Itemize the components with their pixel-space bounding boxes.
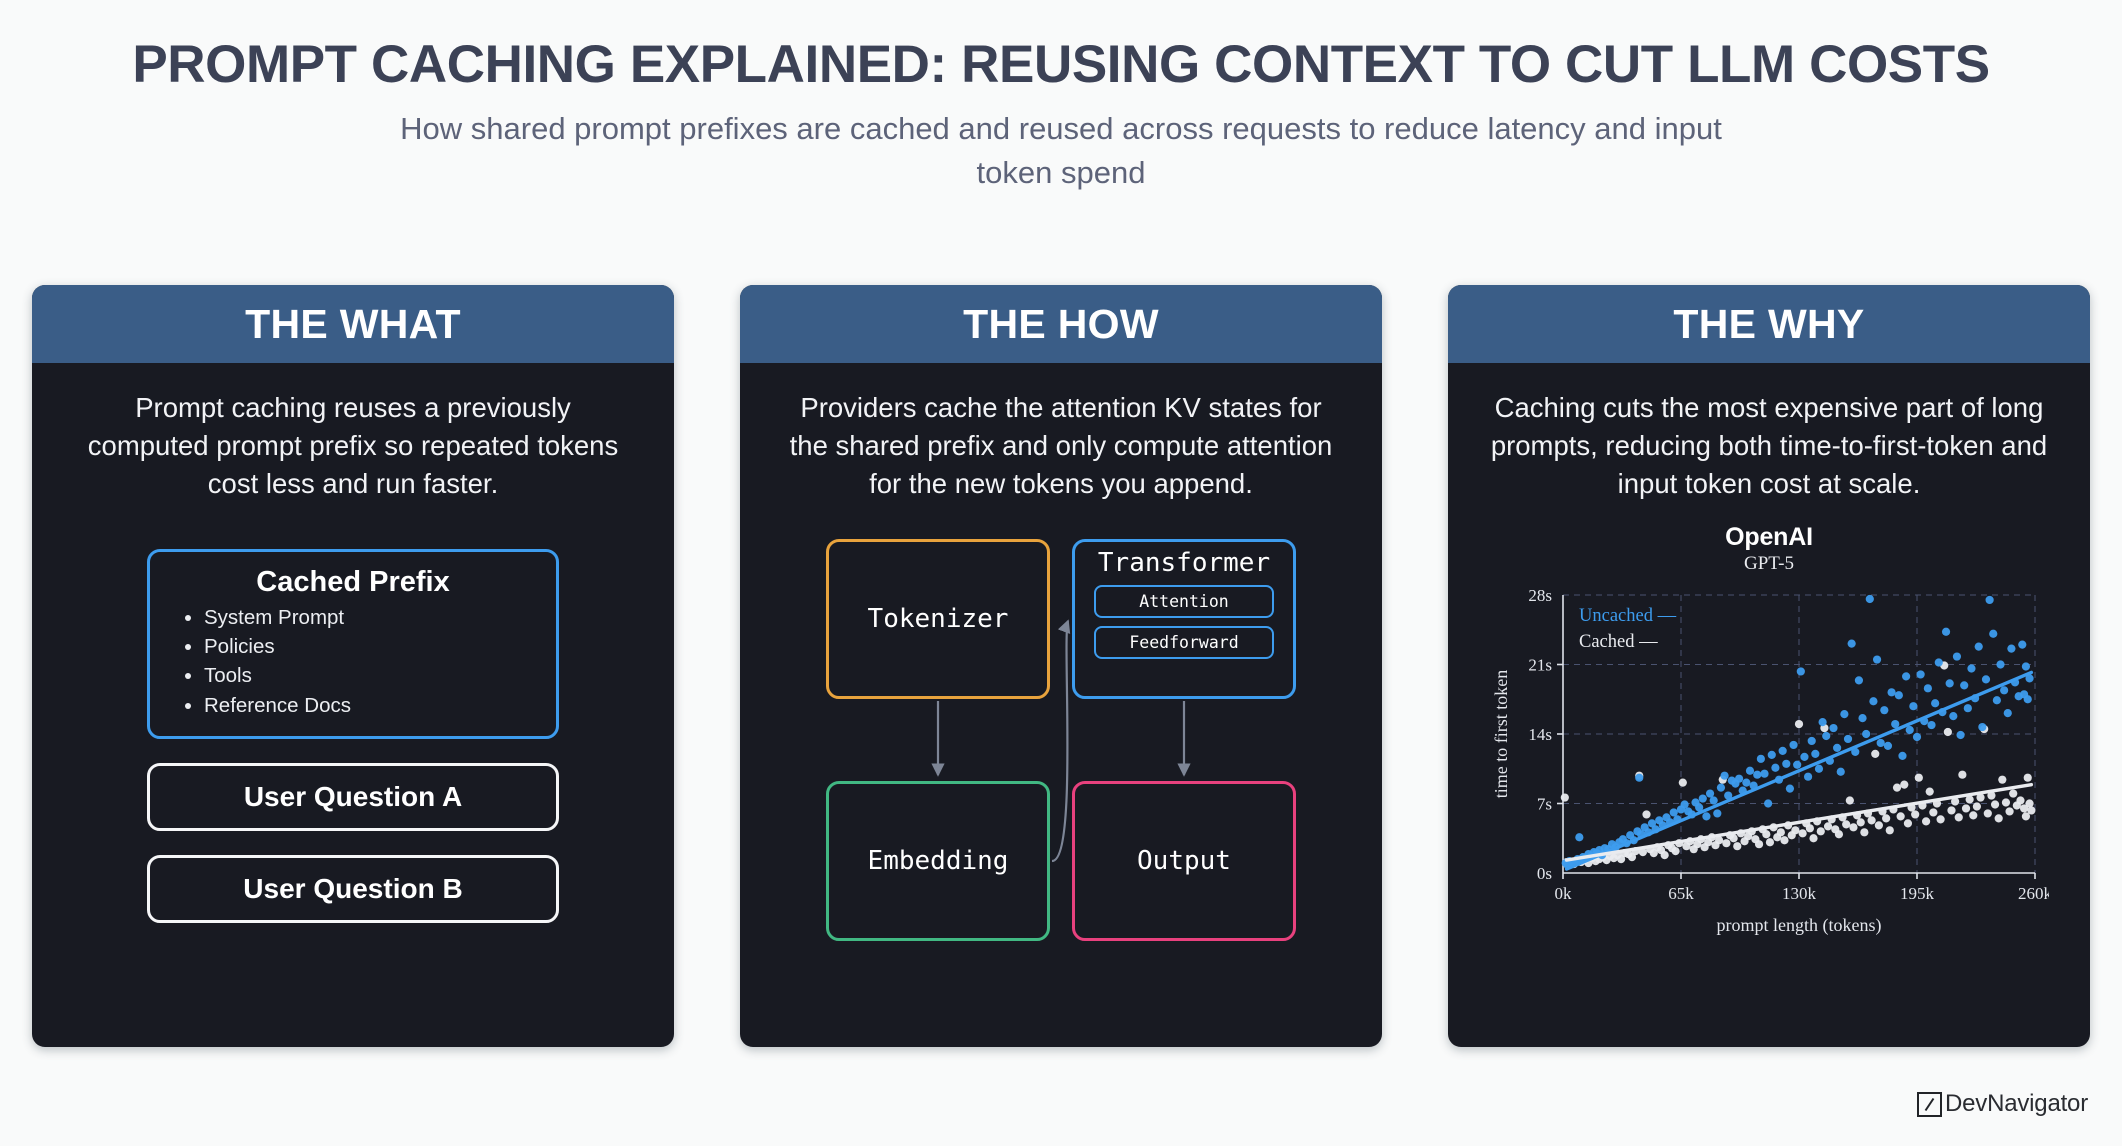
y-tick-label: 0s [1537, 864, 1552, 883]
data-point-cached [1671, 847, 1679, 855]
data-point-uncached [1873, 655, 1881, 663]
panel-the-why-body: Caching cuts the most expensive part of … [1448, 363, 2090, 1047]
chart-brand-label: OpenAI [1725, 523, 1813, 552]
data-point-uncached [1913, 733, 1921, 741]
data-point-cached [1998, 775, 2006, 783]
list-item: Policies [204, 632, 538, 661]
data-point-uncached [1887, 688, 1895, 696]
data-point-uncached [1789, 741, 1797, 749]
cached-prefix-title: Cached Prefix [168, 566, 538, 599]
list-item: Tools [204, 661, 538, 690]
data-point-cached [1875, 821, 1883, 829]
data-point-uncached [1917, 670, 1925, 678]
data-point-uncached [1713, 809, 1721, 817]
data-point-uncached [1986, 596, 1994, 604]
data-point-cached [1860, 828, 1868, 836]
data-point-uncached [1779, 747, 1787, 755]
data-point-cached [1955, 813, 1963, 821]
data-point-uncached [1949, 712, 1957, 720]
data-point-uncached [1978, 723, 1986, 731]
data-point-cached [2002, 798, 2010, 806]
data-point-uncached [1815, 764, 1823, 772]
page-subtitle: How shared prompt prefixes are cached an… [381, 107, 1741, 195]
y-tick-label: 21s [1528, 655, 1552, 674]
x-axis-label: prompt length (tokens) [1717, 915, 1882, 936]
cache-structure-diagram: Cached Prefix System Prompt Policies Too… [62, 549, 644, 923]
data-point-cached [1561, 793, 1569, 801]
data-point-uncached [1880, 706, 1888, 714]
data-point-cached [1766, 838, 1774, 846]
data-point-uncached [1800, 753, 1808, 761]
data-point-cached [1817, 827, 1825, 835]
data-point-uncached [1877, 739, 1885, 747]
legend-item-uncached: Uncached — [1579, 606, 1677, 626]
data-point-uncached [1906, 726, 1914, 734]
data-point-uncached [2020, 690, 2028, 698]
node-embedding-label: Embedding [868, 846, 1009, 876]
data-point-uncached [1706, 789, 1714, 797]
node-attention: Attention [1094, 585, 1274, 618]
data-point-uncached [1858, 714, 1866, 722]
data-point-cached [2016, 796, 2024, 804]
data-point-cached [1868, 816, 1876, 824]
data-point-uncached [1793, 760, 1801, 768]
data-point-uncached [1702, 812, 1710, 820]
footer-logo: DevNavigator [1917, 1090, 2088, 1118]
data-point-uncached [1771, 763, 1779, 771]
data-point-cached [1897, 812, 1905, 820]
data-point-cached [1911, 810, 1919, 818]
logo-text: DevNavigator [1945, 1090, 2088, 1118]
latency-chart-block: OpenAI GPT-5 0s7s14s21s28s0k65k130k195k2… [1478, 523, 2060, 939]
y-tick-label: 7s [1537, 794, 1552, 813]
panel-the-why-title: THE WHY [1673, 301, 1864, 348]
data-point-uncached [1808, 737, 1816, 745]
data-point-uncached [1804, 772, 1812, 780]
data-point-uncached [1942, 627, 1950, 635]
panel-the-what-title: THE WHAT [245, 301, 461, 348]
data-point-cached [1882, 814, 1890, 822]
data-point-uncached [1757, 755, 1765, 763]
data-point-uncached [1909, 702, 1917, 710]
data-point-uncached [1855, 676, 1863, 684]
panel-the-how-header: THE HOW [740, 285, 1382, 363]
panel-the-what: THE WHAT Prompt caching reuses a previou… [32, 285, 674, 1047]
data-point-uncached [1735, 774, 1743, 782]
data-point-uncached [1797, 667, 1805, 675]
pipeline-diagram: Tokenizer Embedding Transformer Attentio… [826, 539, 1296, 919]
data-point-cached [1799, 829, 1807, 837]
data-point-cached [1929, 808, 1937, 816]
data-point-uncached [1681, 800, 1689, 808]
data-point-uncached [1819, 718, 1827, 726]
data-point-cached [1809, 834, 1817, 842]
x-tick-label: 260k [2018, 884, 2049, 903]
data-point-uncached [1822, 732, 1830, 740]
data-point-cached [1922, 817, 1930, 825]
data-point-cached [1958, 770, 1966, 778]
data-point-uncached [1982, 675, 1990, 683]
data-point-cached [1642, 810, 1650, 818]
y-tick-label: 14s [1528, 725, 1552, 744]
data-point-uncached [1848, 639, 1856, 647]
data-point-uncached [1946, 679, 1954, 687]
legend-item-cached: Cached — [1579, 632, 1658, 652]
data-point-cached [1915, 773, 1923, 781]
slash-square-icon [1917, 1092, 1942, 1117]
data-point-uncached [1935, 658, 1943, 666]
data-point-uncached [1837, 767, 1845, 775]
panel-the-why: THE WHY Caching cuts the most expensive … [1448, 285, 2090, 1047]
data-point-uncached [1866, 595, 1874, 603]
data-point-cached [1806, 824, 1814, 832]
header: PROMPT CACHING EXPLAINED: REUSING CONTEX… [0, 0, 2122, 195]
data-point-uncached [1768, 751, 1776, 759]
x-tick-label: 65k [1668, 884, 1694, 903]
data-point-cached [1795, 720, 1803, 728]
data-point-cached [1991, 800, 1999, 808]
data-point-uncached [1833, 744, 1841, 752]
data-point-uncached [1895, 691, 1903, 699]
panels-row: THE WHAT Prompt caching reuses a previou… [32, 285, 2090, 1047]
data-point-uncached [1753, 770, 1761, 778]
data-point-cached [1733, 842, 1741, 850]
chart-model-label: GPT-5 [1744, 553, 1794, 575]
data-point-uncached [1844, 735, 1852, 743]
data-point-uncached [1829, 724, 1837, 732]
panel-the-what-header: THE WHAT [32, 285, 674, 363]
data-point-cached [1824, 822, 1832, 830]
data-point-uncached [1670, 808, 1678, 816]
page-title: PROMPT CACHING EXPLAINED: REUSING CONTEX… [0, 36, 2122, 93]
data-point-cached [1871, 750, 1879, 758]
list-item: Reference Docs [204, 691, 538, 720]
data-point-uncached [2004, 709, 2012, 717]
data-point-uncached [2000, 686, 2008, 694]
node-transformer: Transformer Attention Feedforward [1072, 539, 1296, 699]
data-point-uncached [1924, 684, 1932, 692]
data-point-cached [2009, 789, 2017, 797]
data-point-cached [1661, 851, 1669, 859]
data-point-cached [1947, 806, 1955, 814]
data-point-cached [2025, 799, 2033, 807]
data-point-cached [1780, 836, 1788, 844]
panel-the-why-description: Caching cuts the most expensive part of … [1489, 389, 2049, 503]
data-point-cached [2005, 807, 2013, 815]
data-point-uncached [1760, 769, 1768, 777]
data-point-cached [1886, 826, 1894, 834]
data-point-uncached [1927, 721, 1935, 729]
node-output: Output [1072, 781, 1296, 941]
node-output-label: Output [1137, 846, 1231, 876]
data-point-uncached [1782, 760, 1790, 768]
data-point-uncached [1964, 704, 1972, 712]
x-tick-label: 130k [1782, 884, 1817, 903]
data-point-uncached [1869, 697, 1877, 705]
data-point-uncached [1742, 778, 1750, 786]
data-point-uncached [1764, 799, 1772, 807]
data-point-uncached [1635, 773, 1643, 781]
panel-the-how-description: Providers cache the attention KV states … [781, 389, 1341, 503]
data-point-cached [1730, 834, 1738, 842]
data-point-cached [1722, 839, 1730, 847]
data-point-cached [1904, 819, 1912, 827]
data-point-uncached [1710, 796, 1718, 804]
x-tick-label: 195k [1900, 884, 1935, 903]
x-tick-label: 0k [1555, 884, 1573, 903]
data-point-cached [1857, 818, 1865, 826]
data-point-cached [1984, 809, 1992, 817]
node-embedding: Embedding [826, 781, 1050, 941]
panel-the-what-body: Prompt caching reuses a previously compu… [32, 363, 674, 1047]
data-point-cached [1679, 778, 1687, 786]
node-transformer-label: Transformer [1098, 548, 1270, 578]
data-point-uncached [1717, 783, 1725, 791]
data-point-uncached [2022, 662, 2030, 670]
data-point-uncached [1967, 664, 1975, 672]
panel-the-why-header: THE WHY [1448, 285, 2090, 363]
y-tick-label: 28s [1528, 586, 1552, 605]
data-point-uncached [1746, 766, 1754, 774]
data-point-cached [1846, 796, 1854, 804]
data-point-cached [1849, 823, 1857, 831]
cached-prefix-box: Cached Prefix System Prompt Policies Too… [147, 549, 559, 739]
list-item: System Prompt [204, 603, 538, 632]
data-point-cached [1835, 830, 1843, 838]
data-point-uncached [1720, 771, 1728, 779]
cached-prefix-list: System Prompt Policies Tools Reference D… [168, 603, 538, 720]
data-point-uncached [1960, 681, 1968, 689]
data-point-uncached [1953, 652, 1961, 660]
data-point-uncached [1699, 794, 1707, 802]
data-point-cached [2022, 812, 2030, 820]
data-point-uncached [2018, 640, 2026, 648]
panel-the-how: THE HOW Providers cache the attention KV… [740, 285, 1382, 1047]
data-point-uncached [2007, 644, 2015, 652]
data-point-cached [1791, 826, 1799, 834]
data-point-cached [1962, 804, 1970, 812]
data-point-cached [1755, 840, 1763, 848]
data-point-uncached [1862, 730, 1870, 738]
data-point-uncached [1840, 710, 1848, 718]
arrow-embedding-to-transformer [1052, 621, 1068, 861]
panel-the-how-body: Providers cache the attention KV states … [740, 363, 1382, 1047]
data-point-cached [1762, 830, 1770, 838]
data-point-cached [1995, 814, 2003, 822]
data-point-cached [1926, 787, 1934, 795]
data-point-uncached [1786, 784, 1794, 792]
data-point-uncached [1811, 750, 1819, 758]
data-point-cached [2024, 773, 2032, 781]
data-point-cached [1900, 780, 1908, 788]
panel-the-what-description: Prompt caching reuses a previously compu… [73, 389, 633, 503]
node-feedforward: Feedforward [1094, 626, 1274, 659]
data-point-uncached [1575, 833, 1583, 841]
data-point-uncached [1996, 660, 2004, 668]
data-point-uncached [1931, 699, 1939, 707]
user-question-a-box: User Question A [147, 763, 559, 831]
data-point-cached [1944, 728, 1952, 736]
data-point-cached [1937, 815, 1945, 823]
node-tokenizer-label: Tokenizer [868, 604, 1009, 634]
scatter-chart: 0s7s14s21s28s0k65k130k195k260kprompt len… [1489, 579, 2049, 939]
data-point-uncached [1884, 742, 1892, 750]
data-point-uncached [1975, 642, 1983, 650]
data-point-uncached [1898, 752, 1906, 760]
data-point-uncached [1891, 720, 1899, 728]
data-point-uncached [1993, 696, 2001, 704]
data-point-uncached [1989, 629, 1997, 637]
node-tokenizer: Tokenizer [826, 539, 1050, 699]
data-point-cached [1842, 820, 1850, 828]
y-axis-label: time to first token [1491, 670, 1511, 798]
data-point-cached [1969, 811, 1977, 819]
data-point-uncached [1902, 672, 1910, 680]
panel-the-how-title: THE HOW [963, 301, 1159, 348]
user-question-b-box: User Question B [147, 855, 559, 923]
data-point-uncached [1956, 731, 1964, 739]
data-point-cached [1777, 828, 1785, 836]
data-point-cached [1973, 802, 1981, 810]
data-point-cached [1893, 783, 1901, 791]
